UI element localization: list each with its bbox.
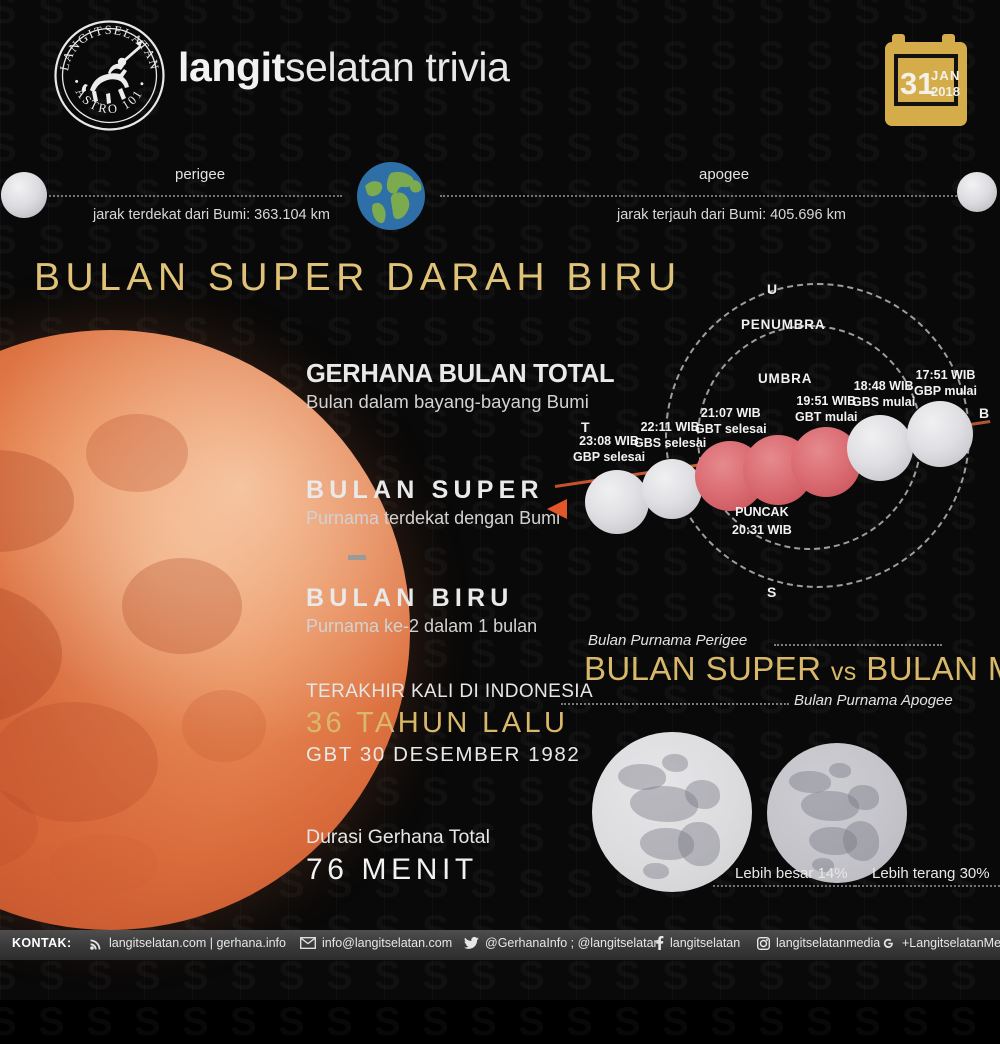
- moon-icon-perigee: [1, 172, 47, 218]
- svg-text:LANGITSELATAN: LANGITSELATAN: [57, 23, 162, 72]
- phase-time: 23:08 WIB: [579, 434, 639, 448]
- caption-lebih-terang: Lebih terang 30%: [872, 865, 990, 882]
- contact-twitter[interactable]: @GerhanaInfo ; @langitselatan: [464, 936, 660, 950]
- eclipse-phase-label-4: 18:48 WIB GBS mulai: [852, 378, 915, 410]
- comparison-caption-rule-a: [713, 885, 855, 887]
- contact-text: langitselatan: [670, 936, 740, 950]
- comparison-caption-rule-b: [855, 885, 1000, 887]
- contact-text: langitselatanmedia: [776, 936, 880, 950]
- apogee-label: apogee: [699, 166, 749, 183]
- eclipse-direction-arrow: [547, 499, 567, 519]
- moon-icon-apogee: [957, 172, 997, 212]
- svg-text:2018: 2018: [931, 84, 960, 99]
- phase-event: GBT selesai: [695, 422, 767, 436]
- perigee-apogee-band: perigee jarak terdekat dari Bumi: 363.10…: [0, 150, 1000, 242]
- page-title: langitselatan trivia: [178, 44, 510, 91]
- penumbra-label: PENUMBRA: [741, 317, 825, 332]
- envelope-icon: [300, 937, 316, 949]
- brand-bold: langit: [178, 44, 285, 90]
- svg-text:JAN: JAN: [931, 68, 961, 83]
- apogee-distance: jarak terjauh dari Bumi: 405.696 km: [617, 207, 846, 223]
- caption-lebih-besar: Lebih besar 14%: [735, 865, 848, 882]
- contact-facebook[interactable]: langitselatan: [655, 936, 740, 950]
- comparison-bottom-rule: [561, 703, 789, 705]
- twitter-icon: [464, 937, 479, 950]
- eclipse-phase-label-5: 17:51 WIB GBP mulai: [914, 367, 977, 399]
- eclipse-phase-label-2: 21:07 WIB GBT selesai: [695, 405, 767, 437]
- previous-event-date: GBT 30 DESEMBER 1982: [306, 743, 593, 767]
- axis-label-barat: B: [979, 405, 989, 421]
- eclipse-peak-label: PUNCAK 20:31 WIB: [732, 503, 792, 539]
- phase-event: GBS selesai: [634, 436, 706, 450]
- eclipse-moon-phase-5: [907, 401, 973, 467]
- comparison-title-mini: BULAN MINI: [866, 650, 1000, 687]
- contact-label: KONTAK:: [12, 936, 72, 950]
- phase-time: 19:51 WIB: [796, 394, 856, 408]
- mini-moon-illustration: [767, 743, 907, 883]
- orbit-line-left: [42, 195, 342, 197]
- statistics-block: TERAKHIR KALI DI INDONESIA 36 TAHUN LALU…: [306, 681, 593, 887]
- contact-text: @GerhanaInfo ; @langitselatan: [485, 936, 660, 950]
- page-header: LANGITSELATAN • ASTRO 101 • langitselata…: [0, 0, 1000, 145]
- contact-website[interactable]: langitselatan.com | gerhana.info: [90, 936, 286, 950]
- axis-label-up: U: [767, 281, 777, 297]
- duration-value: 76 MENIT: [306, 853, 593, 887]
- phase-event: GBP selesai: [573, 450, 645, 464]
- comparison-title-super: BULAN SUPER: [584, 650, 821, 687]
- axis-label-south: S: [767, 584, 776, 600]
- eclipse-path-diagram: PENUMBRA UMBRA U S T B 23:08 WIB GBP sel…: [545, 275, 1000, 605]
- calendar-icon: 31 JAN 2018: [884, 32, 968, 130]
- eclipse-moon-phase-1: [642, 459, 702, 519]
- contact-text: info@langitselatan.com: [322, 936, 452, 950]
- phase-event: GBP mulai: [914, 384, 977, 398]
- umbra-label: UMBRA: [758, 371, 812, 386]
- brand-trivia: trivia: [414, 44, 509, 90]
- peak-title: PUNCAK: [735, 505, 788, 519]
- perigee-distance: jarak terdekat dari Bumi: 363.104 km: [93, 207, 330, 223]
- comparison-title: BULAN SUPER vs BULAN MINI: [584, 650, 1000, 688]
- peak-time: 20:31 WIB: [732, 523, 792, 537]
- contact-text: +LangitselatanMedia: [902, 936, 1000, 950]
- phase-event: GBT mulai: [795, 410, 858, 424]
- langitselatan-logo[interactable]: LANGITSELATAN • ASTRO 101 •: [52, 18, 167, 133]
- phase-time: 17:51 WIB: [916, 368, 976, 382]
- phase-time: 18:48 WIB: [854, 379, 914, 393]
- comparison-top-caption: Bulan Purnama Perigee: [588, 632, 747, 649]
- contact-googleplus[interactable]: +LangitselatanMedia: [882, 936, 1000, 950]
- comparison-title-vs: vs: [831, 658, 857, 686]
- svg-text:31: 31: [900, 66, 934, 101]
- phase-event: GBS mulai: [852, 395, 915, 409]
- instagram-icon: [757, 937, 770, 950]
- earth-icon: [355, 160, 427, 232]
- facebook-icon: [655, 936, 664, 950]
- brand-light: selatan: [285, 44, 414, 90]
- eclipse-phase-label-3: 19:51 WIB GBT mulai: [795, 393, 858, 425]
- perigee-label: perigee: [175, 166, 225, 183]
- phase-time: 22:11 WIB: [641, 420, 700, 434]
- eclipse-moon-phase-0: [585, 470, 649, 534]
- contact-instagram[interactable]: langitselatanmedia: [757, 936, 880, 950]
- orbit-line-right: [440, 195, 960, 197]
- googleplus-icon: [882, 937, 896, 950]
- comparison-bottom-caption: Bulan Purnama Apogee: [794, 692, 953, 709]
- divider-dash: [348, 555, 366, 560]
- super-vs-mini-comparison: Bulan Purnama Perigee BULAN SUPER vs BUL…: [555, 630, 1000, 900]
- duration-label: Durasi Gerhana Total: [306, 826, 593, 849]
- rss-icon: [90, 937, 103, 950]
- phase-time: 21:07 WIB: [701, 406, 761, 420]
- comparison-top-rule: [774, 644, 942, 646]
- super-moon-illustration: [592, 732, 752, 892]
- contact-email[interactable]: info@langitselatan.com: [300, 936, 452, 950]
- contact-text: langitselatan.com | gerhana.info: [109, 936, 286, 950]
- last-occurrence-label: TERAKHIR KALI DI INDONESIA: [306, 681, 593, 703]
- years-ago-value: 36 TAHUN LALU: [306, 707, 593, 740]
